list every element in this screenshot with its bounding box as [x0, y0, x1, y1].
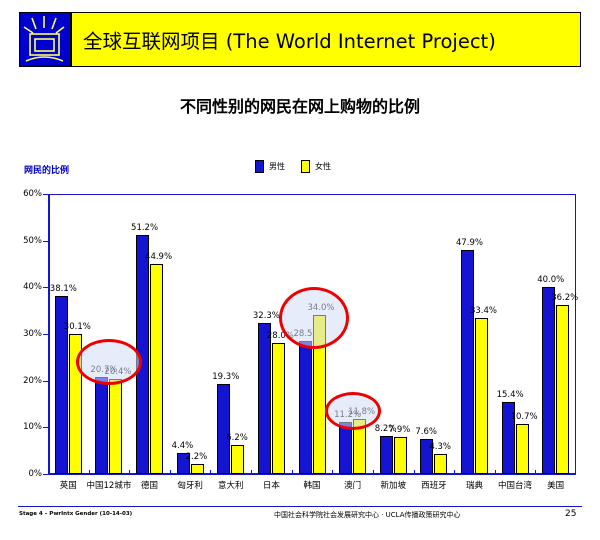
bar-女性-意大利 [231, 445, 244, 474]
x-axis-label-澳门: 澳门 [344, 479, 361, 491]
x-axis-label-德国: 德国 [141, 479, 158, 491]
x-axis-label-中国12城市: 中国12城市 [87, 479, 132, 491]
chart-subtitle: 不同性别的网民在网上购物的比例 [0, 93, 600, 117]
bar-男性-意大利 [217, 384, 230, 474]
x-axis-separator [89, 470, 90, 475]
monitor-rays-icon [20, 13, 70, 66]
x-axis-label-美国: 美国 [547, 479, 564, 491]
bar-男性-中国12城市 [95, 377, 108, 474]
bar-value-label: 7.9% [389, 425, 411, 435]
y-axis-tick-label: 0% [0, 469, 42, 479]
x-axis-separator [170, 470, 171, 475]
bar-男性-日本 [258, 323, 271, 474]
bar-value-label: 4.4% [172, 441, 194, 451]
highlight-macau [325, 392, 381, 430]
bar-value-label: 32.3% [253, 311, 280, 321]
bar-value-label: 19.3% [212, 372, 239, 382]
x-axis-label-新加坡: 新加坡 [380, 479, 406, 491]
bar-value-label: 7.6% [415, 427, 437, 437]
bar-value-label: 2.2% [186, 452, 208, 462]
bar-value-label: 33.4% [470, 306, 497, 316]
legend-item-female: 女性 [301, 160, 331, 173]
bar-value-label: 38.1% [50, 284, 77, 294]
footer-divider [18, 506, 582, 507]
x-axis-label-瑞典: 瑞典 [466, 479, 483, 491]
x-axis-label-中国台湾: 中国台湾 [498, 479, 532, 491]
footer-center-text: 中国社会科学院社会发展研究中心 · UCLA传播政策研究中心 [274, 510, 461, 520]
legend-item-male: 男性 [255, 160, 285, 173]
x-axis-label-英国: 英国 [60, 479, 77, 491]
legend-swatch-female-icon [301, 160, 310, 173]
bar-女性-匈牙利 [191, 464, 204, 474]
bar-女性-美国 [556, 305, 569, 474]
legend-label-male: 男性 [269, 161, 285, 172]
bar-value-label: 30.1% [64, 322, 91, 332]
bar-男性-美国 [542, 287, 555, 474]
bar-value-label: 6.2% [226, 433, 248, 443]
highlight-china [76, 339, 142, 385]
y-axis-title: 网民的比例 [24, 163, 69, 176]
chart-legend: 男性 女性 [255, 160, 331, 173]
footer-left-text: Stage 4 – PwrIntx Gender (10-14-03) [19, 511, 132, 517]
x-axis-label-匈牙利: 匈牙利 [177, 479, 203, 491]
bar-女性-中国台湾 [516, 424, 529, 474]
y-axis-tick-mark [43, 474, 48, 475]
bar-value-label: 47.9% [456, 238, 483, 248]
wip-logo [19, 12, 71, 67]
bar-value-label: 40.0% [537, 275, 564, 285]
x-axis-separator [454, 470, 455, 475]
legend-swatch-male-icon [255, 160, 264, 173]
x-axis-label-西班牙: 西班牙 [421, 479, 447, 491]
bar-value-label: 44.9% [145, 252, 172, 262]
y-axis-tick-label: 20% [0, 376, 42, 386]
footer-page-number: 25 [565, 509, 576, 519]
x-axis-separator [332, 470, 333, 475]
bar-value-label: 51.2% [131, 223, 158, 233]
x-axis-separator [535, 470, 536, 475]
x-axis-label-韩国: 韩国 [303, 479, 320, 491]
y-axis-tick-label: 10% [0, 422, 42, 432]
x-axis-separator [210, 470, 211, 475]
bar-女性-中国12城市 [109, 379, 122, 474]
bar-男性-韩国 [299, 341, 312, 474]
x-axis-separator [129, 470, 130, 475]
x-axis-separator [251, 470, 252, 475]
bar-value-label: 15.4% [497, 390, 524, 400]
x-axis-separator [414, 470, 415, 475]
bar-value-label: 10.7% [511, 412, 538, 422]
bar-女性-西班牙 [434, 454, 447, 474]
x-axis-separator [495, 470, 496, 475]
page-title: 全球互联网项目 (The World Internet Project) [83, 25, 496, 54]
y-axis-tick-label: 30% [0, 329, 42, 339]
x-axis-separator [292, 470, 293, 475]
bar-女性-瑞典 [475, 318, 488, 474]
x-axis-label-日本: 日本 [263, 479, 280, 491]
bar-value-label: 4.3% [429, 442, 451, 452]
slide-header: 全球互联网项目 (The World Internet Project) [19, 12, 581, 67]
bar-男性-瑞典 [461, 250, 474, 474]
x-axis-label-意大利: 意大利 [218, 479, 244, 491]
x-axis-separator [373, 470, 374, 475]
bar-女性-日本 [272, 343, 285, 474]
bar-value-label: 36.2% [551, 293, 578, 303]
bar-男性-新加坡 [380, 436, 393, 474]
bar-女性-德国 [150, 264, 163, 474]
highlight-korea [279, 287, 349, 349]
y-axis-tick-label: 40% [0, 282, 42, 292]
legend-label-female: 女性 [315, 161, 331, 172]
slide-title-bar: 全球互联网项目 (The World Internet Project) [71, 12, 581, 67]
bar-女性-新加坡 [394, 437, 407, 474]
y-axis-tick-label: 60% [0, 189, 42, 199]
y-axis-tick-label: 50% [0, 236, 42, 246]
